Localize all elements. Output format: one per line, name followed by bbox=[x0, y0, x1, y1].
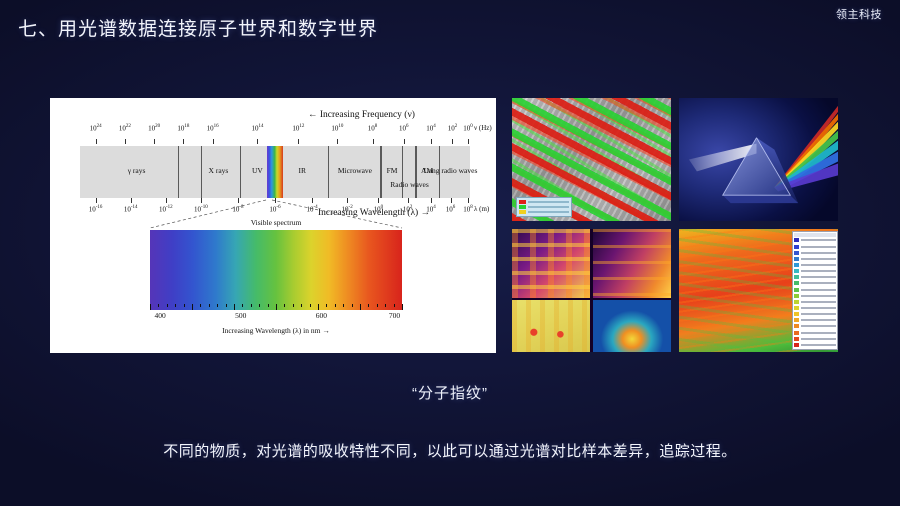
visible-spectrum-tick bbox=[268, 304, 269, 307]
visible-spectrum-gradient bbox=[150, 230, 402, 310]
axis-tick bbox=[257, 139, 258, 144]
legend-swatch bbox=[794, 343, 799, 347]
thermal-quadrant-bottom-right bbox=[593, 300, 671, 352]
axis-tick bbox=[451, 198, 452, 203]
legend-swatch bbox=[794, 306, 799, 310]
visible-spectrum-tick bbox=[150, 304, 151, 310]
axis-tick-label: 1022 bbox=[119, 124, 131, 132]
axis-tick bbox=[431, 198, 432, 203]
visible-spectrum-tick bbox=[352, 304, 353, 307]
visible-spectrum-tick bbox=[293, 304, 294, 307]
legend-swatch bbox=[794, 331, 799, 335]
visible-spectrum-tick bbox=[385, 304, 386, 307]
axis-tick bbox=[125, 139, 126, 144]
legend-range-label bbox=[801, 264, 837, 266]
axis-tick-label: 1024 bbox=[90, 124, 102, 132]
band-label: UV bbox=[252, 166, 263, 175]
axis-tick-label: 1014 bbox=[251, 124, 263, 132]
axis-tick-label: 106 bbox=[446, 205, 456, 213]
axis-tick bbox=[312, 198, 313, 203]
prism-light-dispersion bbox=[679, 98, 838, 221]
axis-tick bbox=[213, 139, 214, 144]
legend-row bbox=[794, 342, 836, 348]
spectrum-band: γ raysX raysUVIRMicrowaveFMAMRadio waves… bbox=[80, 146, 470, 198]
visible-spectrum-tick bbox=[234, 304, 235, 310]
legend-swatch bbox=[794, 324, 799, 328]
band-label: X rays bbox=[209, 166, 229, 175]
visible-spectrum-caption: Increasing Wavelength (λ) in nm → bbox=[150, 326, 402, 335]
axis-tick bbox=[408, 198, 409, 203]
visible-spectrum-tick bbox=[318, 304, 319, 310]
visible-spectrum-tick bbox=[394, 304, 395, 307]
axis-tick-label: 108 bbox=[463, 205, 473, 213]
band-divider bbox=[402, 146, 403, 198]
quote-text: “分子指纹” bbox=[0, 382, 900, 403]
visible-spectrum-tick bbox=[175, 304, 176, 307]
axis-tick bbox=[96, 198, 97, 203]
legend-label-placeholder bbox=[528, 206, 569, 208]
visible-spectrum-tick bbox=[226, 304, 227, 307]
electromagnetic-spectrum-figure: ← Increasing Frequency (ν) 1024102210201… bbox=[50, 98, 496, 353]
legend-label-placeholder bbox=[528, 211, 569, 213]
visible-spectrum-tick-label: 500 bbox=[235, 311, 246, 320]
band-divider bbox=[380, 146, 381, 198]
legend-swatch bbox=[794, 312, 799, 316]
visible-spectrum-tick bbox=[377, 304, 378, 307]
axis-tick-label: 10-12 bbox=[159, 205, 173, 213]
axis-tick bbox=[431, 139, 432, 144]
band-label: Microwave bbox=[338, 166, 372, 175]
axis-tick bbox=[154, 139, 155, 144]
thermal-quadrant-top-right bbox=[593, 229, 671, 298]
wavelength-unit-label: λ (m) bbox=[474, 205, 489, 213]
band-divider bbox=[178, 146, 179, 198]
frequency-axis-ticks bbox=[50, 139, 496, 145]
axis-tick bbox=[378, 198, 379, 203]
prism-illustration bbox=[679, 98, 838, 221]
axis-tick-label: 1016 bbox=[207, 124, 219, 132]
visible-spectrum-tick bbox=[310, 304, 311, 307]
axis-tick bbox=[298, 139, 299, 144]
hyperspectral-legend bbox=[516, 197, 572, 217]
visible-spectrum-tick bbox=[326, 304, 327, 307]
legend-range-label bbox=[801, 258, 837, 260]
legend-swatch bbox=[794, 281, 799, 285]
visible-spectrum-tick bbox=[242, 304, 243, 307]
visible-light-strip bbox=[267, 146, 283, 198]
thermal-infrared-composite bbox=[512, 229, 671, 352]
axis-tick-label: 1020 bbox=[148, 124, 160, 132]
brand-logo-text: 领主科技 bbox=[836, 6, 882, 22]
legend-range-label bbox=[801, 319, 837, 321]
visible-spectrum-tick bbox=[343, 304, 344, 307]
axis-tick bbox=[275, 198, 276, 203]
visible-spectrum-tick bbox=[368, 304, 369, 307]
axis-tick bbox=[166, 198, 167, 203]
visible-spectrum-ticks bbox=[150, 304, 402, 310]
legend-range-label bbox=[801, 295, 837, 297]
legend-swatch bbox=[794, 288, 799, 292]
axis-tick bbox=[131, 198, 132, 203]
legend-range-label bbox=[801, 282, 837, 284]
axis-tick-label: 102 bbox=[448, 124, 458, 132]
band-label: FM bbox=[387, 166, 398, 175]
axis-tick-label: 10-14 bbox=[124, 205, 138, 213]
legend-swatch bbox=[794, 251, 799, 255]
band-label: Radio waves bbox=[390, 180, 429, 189]
band-label: IR bbox=[299, 166, 307, 175]
thermal-quadrant-top-left bbox=[512, 229, 590, 298]
visible-spectrum-tick bbox=[167, 304, 168, 307]
axis-tick-label: 1018 bbox=[177, 124, 189, 132]
axis-tick-label: 104 bbox=[426, 124, 436, 132]
summary-text: 不同的物质，对光谱的吸收特性不同，以此可以通过光谱对比样本差异，追踪过程。 bbox=[0, 440, 900, 461]
axis-tick bbox=[373, 139, 374, 144]
axis-tick-label: 10-8 bbox=[232, 205, 243, 213]
axis-tick-label: 108 bbox=[368, 124, 378, 132]
legend-range-label bbox=[801, 246, 837, 248]
legend-swatch bbox=[794, 245, 799, 249]
visible-spectrum-tick bbox=[259, 304, 260, 307]
visible-spectrum-tick-label: 700 bbox=[389, 311, 400, 320]
legend-swatch bbox=[794, 337, 799, 341]
visible-spectrum-tick bbox=[360, 304, 361, 310]
ndvi-vegetation-index-map bbox=[679, 229, 838, 352]
legend-swatch bbox=[794, 269, 799, 273]
visible-spectrum-tick bbox=[217, 304, 218, 307]
thermal-quadrant-bottom-left bbox=[512, 300, 590, 352]
legend-range-label bbox=[801, 313, 837, 315]
axis-tick bbox=[183, 139, 184, 144]
legend-label-placeholder bbox=[528, 201, 569, 203]
axis-tick-label: 10-10 bbox=[194, 205, 208, 213]
visible-spectrum-tick bbox=[158, 304, 159, 307]
visible-spectrum-tick bbox=[251, 304, 252, 307]
frequency-axis-labels: 1024102210201018101610141012101010810610… bbox=[50, 124, 496, 137]
legend-range-label bbox=[801, 325, 837, 327]
legend-range-label bbox=[801, 307, 837, 309]
hyperspectral-classification-map bbox=[512, 98, 671, 221]
legend-swatch bbox=[794, 318, 799, 322]
legend-range-label bbox=[801, 276, 837, 278]
axis-tick-label: 106 bbox=[399, 124, 409, 132]
legend-range-label bbox=[801, 338, 837, 340]
increasing-frequency-label: ← Increasing Frequency (ν) bbox=[308, 110, 415, 120]
visible-spectrum-tick bbox=[192, 304, 193, 310]
band-label: Long radio waves bbox=[424, 166, 478, 175]
wavelength-axis-ticks bbox=[50, 198, 496, 204]
increasing-wavelength-label: Increasing Wavelength (λ) → bbox=[318, 208, 430, 218]
visible-spectrum-title: Visible spectrum bbox=[150, 218, 402, 227]
legend-swatch bbox=[794, 263, 799, 267]
band-divider bbox=[201, 146, 202, 198]
spectral-imaging-examples-grid bbox=[512, 98, 838, 352]
visible-spectrum-tick-label: 600 bbox=[316, 311, 327, 320]
axis-tick bbox=[96, 139, 97, 144]
axis-tick-label: 1010 bbox=[331, 124, 343, 132]
visible-spectrum-tick bbox=[209, 304, 210, 307]
axis-tick bbox=[468, 139, 469, 144]
visible-spectrum-tick bbox=[402, 304, 403, 310]
axis-tick bbox=[452, 139, 453, 144]
legend-range-label bbox=[801, 332, 837, 334]
axis-tick bbox=[404, 139, 405, 144]
legend-range-label bbox=[801, 344, 837, 346]
band-divider bbox=[240, 146, 241, 198]
axis-tick bbox=[468, 198, 469, 203]
legend-range-label bbox=[801, 270, 837, 272]
band-divider bbox=[328, 146, 329, 198]
visible-spectrum-tick bbox=[200, 304, 201, 307]
axis-tick bbox=[347, 198, 348, 203]
axis-tick bbox=[337, 139, 338, 144]
frequency-unit-label: ν (Hz) bbox=[474, 124, 492, 132]
band-label: γ rays bbox=[128, 166, 146, 175]
axis-tick-label: 10-16 bbox=[89, 205, 103, 213]
page-title: 七、用光谱数据连接原子世界和数字世界 bbox=[18, 14, 378, 41]
legend-range-label bbox=[801, 239, 837, 241]
axis-tick bbox=[201, 198, 202, 203]
visible-spectrum-tick bbox=[184, 304, 185, 307]
band-divider bbox=[415, 146, 416, 198]
slide-canvas: 领主科技 七、用光谱数据连接原子世界和数字世界 ← Increasing Fre… bbox=[0, 0, 900, 506]
visible-spectrum-tick bbox=[301, 304, 302, 307]
legend-swatch bbox=[794, 275, 799, 279]
axis-tick-label: 100 bbox=[463, 124, 473, 132]
legend-swatch bbox=[519, 210, 526, 214]
legend-range-label bbox=[801, 289, 837, 291]
legend-range-label bbox=[801, 301, 837, 303]
legend-range-label bbox=[801, 252, 837, 254]
visible-spectrum-tick-labels: 400500600700 bbox=[150, 311, 402, 323]
axis-tick-label: 10-6 bbox=[269, 205, 280, 213]
ndvi-legend bbox=[792, 231, 838, 350]
legend-swatch bbox=[794, 257, 799, 261]
axis-tick-label: 1012 bbox=[292, 124, 304, 132]
legend-swatch bbox=[794, 294, 799, 298]
legend-swatch bbox=[794, 238, 799, 242]
axis-tick bbox=[238, 198, 239, 203]
legend-swatch bbox=[794, 300, 799, 304]
visible-spectrum-tick bbox=[284, 304, 285, 307]
axis-tick-label: 10-4 bbox=[306, 205, 317, 213]
visible-spectrum-tick bbox=[276, 304, 277, 310]
visible-spectrum-tick bbox=[335, 304, 336, 307]
visible-spectrum-tick-label: 400 bbox=[154, 311, 165, 320]
legend-row bbox=[519, 209, 569, 214]
